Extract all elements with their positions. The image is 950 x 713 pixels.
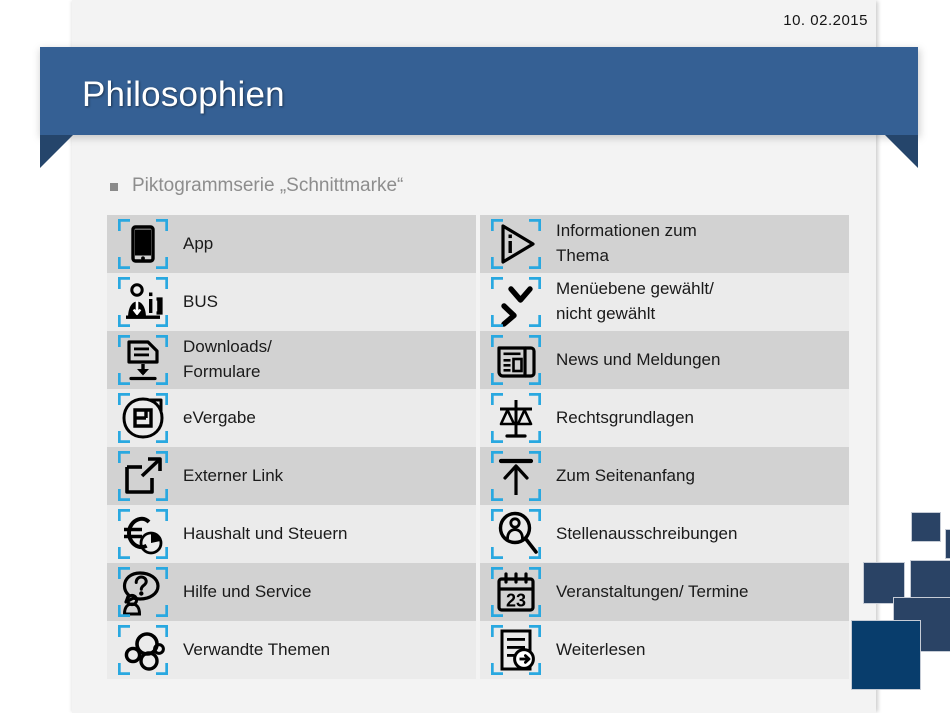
pictogram-label: Zum Seitenanfang xyxy=(548,464,701,489)
pictogram-icon-slot xyxy=(111,505,175,563)
decor-square-2 xyxy=(945,529,950,559)
pictogram-label: Veranstaltungen/ Termine xyxy=(548,580,754,605)
pictogram-cell-left[interactable]: App xyxy=(107,215,476,273)
pictogram-icon-slot xyxy=(484,389,548,447)
table-row: Externer Link Zum Seitenanfang xyxy=(107,447,849,505)
table-row: BUS Menüebene gewählt/ nicht gewählt xyxy=(107,273,849,331)
slide-date: 10. 02.2015 xyxy=(783,12,868,29)
help-person-question-icon xyxy=(118,567,168,617)
pictogram-label: Downloads/ Formulare xyxy=(175,335,278,384)
play-info-icon xyxy=(491,219,541,269)
pictogram-cell-right[interactable]: 23Veranstaltungen/ Termine xyxy=(480,563,849,621)
pictogram-label: eVergabe xyxy=(175,406,262,431)
bus-person-info-icon xyxy=(118,277,168,327)
page-title: Philosophien xyxy=(82,75,285,115)
bullet-line: Piktogrammserie „Schnittmarke“ xyxy=(110,175,403,197)
external-link-icon xyxy=(118,451,168,501)
pictogram-label: Rechtsgrundlagen xyxy=(548,406,700,431)
pictogram-cell-left[interactable]: Verwandte Themen xyxy=(107,621,476,679)
decor-square-1 xyxy=(911,512,941,542)
pictogram-cell-left[interactable]: Haushalt und Steuern xyxy=(107,505,476,563)
euro-pie-icon xyxy=(118,509,168,559)
ribbon-fold-left-icon xyxy=(40,135,73,168)
e-vergabe-icon xyxy=(118,393,168,443)
pictogram-table: App Informationen zum Thema BUS Menüeben… xyxy=(107,215,849,679)
pictogram-icon-slot: 23 xyxy=(484,563,548,621)
pictogram-label: Haushalt und Steuern xyxy=(175,522,353,547)
pictogram-cell-right[interactable]: Rechtsgrundlagen xyxy=(480,389,849,447)
pictogram-cell-right[interactable]: Weiterlesen xyxy=(480,621,849,679)
pictogram-label: BUS xyxy=(175,290,224,315)
pictogram-cell-right[interactable]: News und Meldungen xyxy=(480,331,849,389)
pictogram-icon-slot xyxy=(484,273,548,331)
pictogram-icon-slot xyxy=(484,505,548,563)
pictogram-icon-slot xyxy=(111,273,175,331)
pictogram-cell-right[interactable]: Menüebene gewählt/ nicht gewählt xyxy=(480,273,849,331)
pictogram-label: Informationen zum Thema xyxy=(548,219,703,268)
pictogram-label: News und Meldungen xyxy=(548,348,726,373)
scales-justice-icon xyxy=(491,393,541,443)
pictogram-icon-slot xyxy=(484,331,548,389)
pictogram-label: Externer Link xyxy=(175,464,289,489)
arrow-up-top-icon xyxy=(491,451,541,501)
pictogram-icon-slot xyxy=(484,447,548,505)
decor-square-6 xyxy=(851,620,921,690)
pictogram-cell-right[interactable]: Zum Seitenanfang xyxy=(480,447,849,505)
table-row: Downloads/ Formulare News und Meldungen xyxy=(107,331,849,389)
pictogram-cell-left[interactable]: BUS xyxy=(107,273,476,331)
pictogram-icon-slot xyxy=(111,447,175,505)
pictogram-icon-slot xyxy=(111,331,175,389)
pictogram-icon-slot xyxy=(484,621,548,679)
pictogram-cell-left[interactable]: Downloads/ Formulare xyxy=(107,331,476,389)
pictogram-cell-left[interactable]: eVergabe xyxy=(107,389,476,447)
person-magnifier-icon xyxy=(491,509,541,559)
pictogram-cell-left[interactable]: Externer Link xyxy=(107,447,476,505)
pictogram-icon-slot xyxy=(484,215,548,273)
pictogram-icon-slot xyxy=(111,621,175,679)
slide-canvas: 10. 02.2015 Philosophien Piktogrammserie… xyxy=(0,0,950,713)
pictogram-icon-slot xyxy=(111,563,175,621)
chevron-down-right-icon xyxy=(491,277,541,327)
read-more-document-icon xyxy=(491,625,541,675)
newspaper-icon xyxy=(491,335,541,385)
table-row: eVergabe Rechtsgrundlagen xyxy=(107,389,849,447)
pictogram-label: Verwandte Themen xyxy=(175,638,336,663)
pictogram-label: App xyxy=(175,232,219,257)
pictogram-label: Stellenausschreibungen xyxy=(548,522,743,547)
pictogram-label: Menüebene gewählt/ nicht gewählt xyxy=(548,277,720,326)
download-document-icon xyxy=(118,335,168,385)
calendar-23-icon: 23 xyxy=(491,567,541,617)
pictogram-cell-left[interactable]: Hilfe und Service xyxy=(107,563,476,621)
square-bullet-icon xyxy=(110,183,118,191)
table-row: App Informationen zum Thema xyxy=(107,215,849,273)
pictogram-label: Hilfe und Service xyxy=(175,580,318,605)
table-row: Verwandte Themen Weiterlesen xyxy=(107,621,849,679)
table-row: Hilfe und Service 23Veranstaltungen/ Ter… xyxy=(107,563,849,621)
table-row: Haushalt und Steuern Stellenausschreibun… xyxy=(107,505,849,563)
pictogram-label: Weiterlesen xyxy=(548,638,651,663)
smartphone-icon xyxy=(118,219,168,269)
related-topics-bubbles-icon xyxy=(118,625,168,675)
pictogram-icon-slot xyxy=(111,215,175,273)
svg-text:23: 23 xyxy=(506,591,526,611)
pictogram-cell-right[interactable]: Informationen zum Thema xyxy=(480,215,849,273)
pictogram-icon-slot xyxy=(111,389,175,447)
ribbon-fold-right-icon xyxy=(885,135,918,168)
pictogram-cell-right[interactable]: Stellenausschreibungen xyxy=(480,505,849,563)
bullet-label: Piktogrammserie „Schnittmarke“ xyxy=(132,175,403,197)
